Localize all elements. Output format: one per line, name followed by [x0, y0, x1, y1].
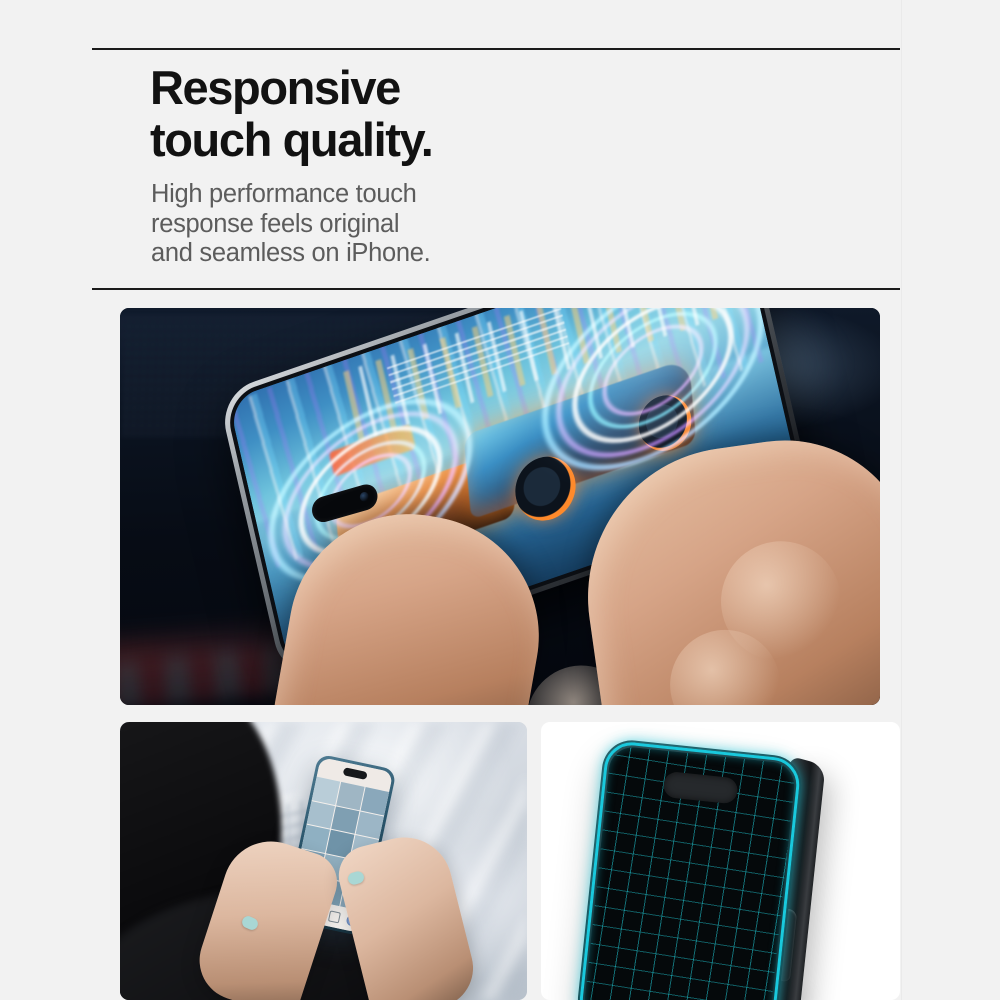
product-feature-page: Responsive touch quality. High performan… — [0, 0, 1000, 1000]
tab-icon-share[interactable] — [328, 910, 341, 923]
protector-edge-glow — [577, 740, 802, 1000]
hero-gaming-image — [120, 308, 880, 705]
headline-line-2: touch quality. — [150, 114, 850, 166]
dynamic-island-lifestyle — [343, 767, 368, 780]
photo-tile[interactable] — [356, 811, 384, 839]
divider-bottom — [92, 288, 900, 290]
page-title: Responsive touch quality. — [150, 62, 850, 166]
divider-top — [92, 48, 900, 50]
screen-protector-detail-image — [541, 722, 900, 1000]
protector-phone-body — [575, 737, 804, 1000]
page-subtitle: High performance touch response feels or… — [151, 180, 771, 269]
photo-tile[interactable] — [361, 787, 389, 815]
page-gutter-line — [901, 0, 902, 1000]
photo-tile[interactable] — [331, 806, 359, 834]
photo-tile[interactable] — [336, 782, 364, 810]
photo-tile[interactable] — [302, 825, 330, 853]
photo-tile[interactable] — [307, 801, 335, 829]
subhead-line-1: High performance touch — [151, 180, 771, 210]
headline-line-1: Responsive — [150, 62, 850, 114]
photo-tile[interactable] — [312, 777, 340, 805]
protector-phone — [574, 737, 822, 1000]
lifestyle-image — [120, 722, 527, 1000]
subhead-line-3: and seamless on iPhone. — [151, 239, 771, 269]
header-top-rule-wrap — [92, 48, 900, 50]
subhead-line-2: response feels original — [151, 210, 771, 240]
